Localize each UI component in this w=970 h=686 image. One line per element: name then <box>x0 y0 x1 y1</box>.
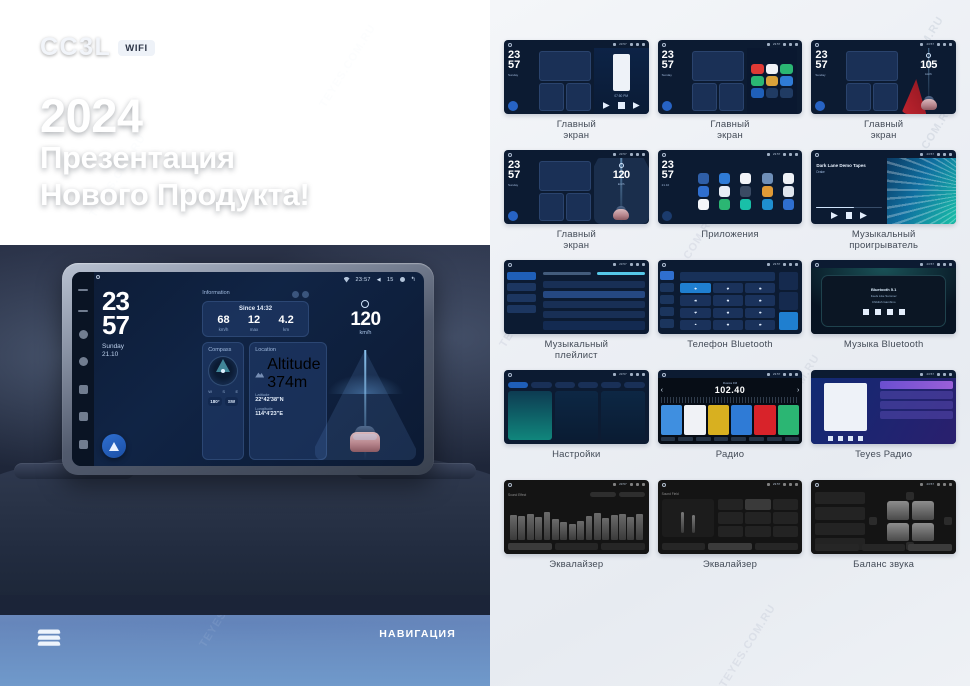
thumb-content: 2357Sunday 07:50 PM <box>504 48 649 114</box>
back-icon <box>642 483 645 486</box>
information-widget[interactable] <box>539 161 591 191</box>
status-volume: 15 <box>387 277 394 283</box>
equalizer-tabs[interactable] <box>508 543 645 550</box>
preset-pad-2[interactable] <box>745 499 771 510</box>
compass-direction: SW <box>225 397 239 406</box>
gallery-cell[interactable]: 23:57 2357Sunday <box>811 40 956 144</box>
volume-icon <box>937 43 940 46</box>
fader-pair[interactable] <box>662 499 714 537</box>
rail-icon-volume-down[interactable] <box>78 310 88 312</box>
music-player-icon <box>740 199 751 210</box>
media-widget[interactable]: 07:50 PM <box>594 48 649 114</box>
band-slider <box>594 513 601 540</box>
wifi-icon <box>613 373 616 376</box>
readout-left <box>815 523 864 535</box>
app-play-store[interactable] <box>758 199 777 210</box>
wifi-icon <box>767 43 770 46</box>
usb-icon <box>698 173 709 184</box>
status-time: 23:57 <box>773 482 781 486</box>
thumb-equalizer-presets[interactable]: 23:57 Sound Field <box>658 480 803 554</box>
thumb-content: Sound Field <box>658 488 803 554</box>
information-widget[interactable] <box>692 51 744 81</box>
volume-icon <box>630 153 633 156</box>
thumb-content <box>811 378 956 444</box>
band-slider <box>560 522 567 540</box>
volume-icon <box>937 373 940 376</box>
seat-rear-right <box>912 523 934 541</box>
settings-tabs[interactable] <box>508 382 645 388</box>
thumb-content: Bluetooth 5.1 Feels Like Summer Childish… <box>811 268 956 334</box>
caption: Эквалайзер <box>549 560 603 584</box>
tool-ta[interactable] <box>749 437 764 441</box>
clock-minutes: 57 <box>662 61 687 71</box>
app-icon-all-apps[interactable] <box>780 88 792 98</box>
band-slider <box>602 518 609 540</box>
preset-pad-3[interactable] <box>773 499 799 510</box>
tab-about[interactable] <box>601 382 621 388</box>
navigation-arrow-button[interactable] <box>508 211 518 221</box>
arrow-up-button[interactable] <box>906 492 914 500</box>
app-icon-youtube[interactable] <box>751 64 763 74</box>
widgets-row-2 <box>692 83 744 111</box>
tab-field[interactable] <box>862 544 906 551</box>
thumb-applications[interactable]: 23:57 235721.10 <box>658 150 803 224</box>
status-time: 23:57 <box>773 372 781 376</box>
card-carplay[interactable] <box>555 391 599 440</box>
status-bar: 23:57 <box>504 480 649 488</box>
thumb-teyes-radio[interactable]: 23:57 <box>811 370 956 444</box>
preset-5[interactable] <box>754 405 775 435</box>
tool-settings[interactable] <box>767 437 782 441</box>
app-clock[interactable] <box>715 186 734 197</box>
preset-pads[interactable] <box>718 499 799 537</box>
app-icon-spotify[interactable] <box>751 76 763 86</box>
sidebar-item-recents[interactable] <box>660 307 675 316</box>
head-unit-bezel: 23:57 ◀ 15 ↰ 23 57 <box>62 263 434 475</box>
refresh-icon[interactable] <box>302 291 309 298</box>
tab-sound[interactable] <box>531 382 551 388</box>
thumb-bluetooth-phone[interactable]: 23:57 12 <box>658 260 803 334</box>
app-music-player[interactable] <box>736 199 755 210</box>
rail-icon-volume-up[interactable] <box>78 289 88 291</box>
settings-cards[interactable] <box>508 391 645 440</box>
card-more[interactable] <box>601 391 645 440</box>
thumb-home-screen-drive[interactable]: 23:57 2357Sunday <box>811 40 956 114</box>
volume-icon <box>630 373 633 376</box>
gallery-cell[interactable]: 23:57 <box>504 260 649 364</box>
list-item[interactable] <box>543 311 645 318</box>
player-controls[interactable] <box>814 436 876 441</box>
information-widget[interactable] <box>539 51 591 81</box>
app-bluetooth[interactable] <box>715 173 734 184</box>
preset-chip-custom[interactable] <box>619 492 645 497</box>
previous-icon[interactable] <box>831 212 838 219</box>
gallery-cell[interactable]: 23:57 2357Sunday <box>504 150 649 254</box>
screenshot-icon <box>789 153 792 156</box>
preset-stations[interactable] <box>661 405 800 435</box>
app-icon-play-store[interactable] <box>751 88 763 98</box>
list-item[interactable] <box>880 391 953 399</box>
head-unit-screen[interactable]: 23:57 ◀ 15 ↰ 23 57 <box>72 272 424 466</box>
navigation-arrow-button[interactable] <box>815 101 825 111</box>
sidebar-item-dialpad[interactable] <box>660 271 675 280</box>
app-dsp-equalizer[interactable] <box>736 186 755 197</box>
media-controls[interactable] <box>599 102 644 109</box>
status-time: 23:57 <box>619 42 627 46</box>
tab-reset[interactable] <box>601 543 645 550</box>
back-icon <box>795 263 798 266</box>
tab-reset[interactable] <box>755 543 799 550</box>
dial-key-5[interactable]: 5 <box>713 295 743 305</box>
stat-value: 12 <box>248 315 260 326</box>
thumb-equalizer-bands[interactable]: 23:57 Sound Effect <box>504 480 649 554</box>
dial-key-0[interactable]: 0 <box>713 320 743 330</box>
now-playing-bar[interactable] <box>543 321 645 330</box>
previous-icon[interactable] <box>863 309 869 315</box>
head-unit-side-rail[interactable] <box>72 272 94 466</box>
thumb-radio[interactable]: 23:57 Russia FM ‹ 102.40 › <box>658 370 803 444</box>
clock-minutes: 57 <box>508 171 533 181</box>
tab-field[interactable] <box>708 543 752 550</box>
app-file-manager[interactable] <box>758 186 777 197</box>
presets-main <box>662 499 799 537</box>
radio-icon <box>783 199 794 210</box>
gallery-cell[interactable]: 23:57 <box>811 370 956 474</box>
rail-icon-home[interactable] <box>79 357 88 366</box>
compass-widget[interactable] <box>539 83 564 111</box>
information-widget[interactable]: Information Since 14:32 <box>202 290 309 337</box>
tool-af[interactable] <box>731 437 746 441</box>
location-widget[interactable] <box>873 83 898 111</box>
sidebar-item-search[interactable] <box>660 295 675 304</box>
folder-icon <box>762 186 773 197</box>
location-widget[interactable] <box>566 83 591 111</box>
information-title: Information <box>202 290 230 296</box>
navigation-arrow-button[interactable] <box>662 101 672 111</box>
tab-fade[interactable] <box>555 543 599 550</box>
wifi-icon <box>767 483 770 486</box>
preset-4[interactable] <box>731 405 752 435</box>
preset-pad-7[interactable] <box>718 526 744 537</box>
app-shortcuts-panel[interactable] <box>747 48 796 114</box>
status-bar: 23:57 <box>658 150 803 158</box>
preset-2[interactable] <box>684 405 705 435</box>
preset-pad-6[interactable] <box>773 512 799 523</box>
hero-line-2: Нового Продукта! <box>40 177 309 214</box>
phone-sidebar[interactable] <box>658 268 677 334</box>
phone-number-field[interactable] <box>680 272 775 281</box>
dial-pad[interactable]: 123 456 789 *0# <box>680 283 775 330</box>
player-controls[interactable] <box>816 212 881 219</box>
tab-more[interactable] <box>624 382 644 388</box>
back-button[interactable] <box>662 211 672 221</box>
gallery-cell[interactable]: 23:57 Russia FM ‹ 102.40 › <box>658 370 803 474</box>
sidebar-item-settings[interactable] <box>660 319 675 328</box>
app-gallery[interactable] <box>779 186 798 197</box>
app-camera[interactable] <box>779 173 798 184</box>
play-store-icon <box>762 199 773 210</box>
preset-pad-8[interactable] <box>745 526 771 537</box>
tab-wlan[interactable] <box>508 382 528 388</box>
car-3d-model <box>348 422 382 452</box>
app-icon-maps[interactable] <box>780 64 792 74</box>
gallery-cell[interactable]: 23:57 <box>811 480 956 584</box>
screenshot-gallery: TEYES.COM.RU TEYES.COM.RU TEYES.COM.RU T… <box>490 0 970 686</box>
arrow-left-button[interactable] <box>869 517 877 525</box>
status-bar: 23:57 <box>658 40 803 48</box>
balance-stage[interactable] <box>869 492 952 550</box>
gallery-cell[interactable]: 23:57 235721.10 <box>658 150 803 254</box>
settings-page[interactable] <box>504 378 649 444</box>
gear-icon[interactable] <box>292 291 299 298</box>
radio-frequency: 102.40 <box>715 385 746 395</box>
next-icon[interactable] <box>848 436 853 441</box>
stop-icon[interactable] <box>838 436 843 441</box>
next-icon[interactable] <box>860 212 867 219</box>
prev-station-icon[interactable]: ‹ <box>661 387 663 394</box>
seat-front-right <box>912 501 934 519</box>
thumb-content: 2357Sunday <box>658 48 803 114</box>
screenshot-icon <box>789 483 792 486</box>
volume-icon <box>937 483 940 486</box>
gallery-cell[interactable]: 23:57 <box>504 370 649 474</box>
app-grid[interactable] <box>689 158 802 224</box>
band-sliders[interactable] <box>508 500 645 540</box>
tool-scan[interactable] <box>678 437 693 441</box>
app-maps[interactable] <box>715 199 734 210</box>
speed-readout: 105 km/h <box>901 53 956 76</box>
backspace-icon[interactable] <box>779 292 798 310</box>
back-icon <box>949 373 952 376</box>
favorite-icon[interactable] <box>858 436 863 441</box>
gallery-cell[interactable]: 23:57 Sound Effect <box>504 480 649 584</box>
car-body <box>613 209 629 220</box>
next-icon[interactable] <box>899 309 905 315</box>
tab-eq[interactable] <box>662 543 706 550</box>
thumb-sound-balance[interactable]: 23:57 <box>811 480 956 554</box>
screenshot-icon <box>943 373 946 376</box>
preset-3[interactable] <box>708 405 729 435</box>
rail-icon-prev[interactable] <box>79 412 88 421</box>
clock-day: Sunday <box>662 73 687 77</box>
gallery-cell[interactable]: 23:57 12 <box>658 260 803 364</box>
app-icon-browser[interactable] <box>766 64 778 74</box>
bluetooth-device-name: Bluetooth 5.1 <box>871 287 896 292</box>
tool-eq[interactable] <box>714 437 729 441</box>
location-widget[interactable] <box>566 193 591 221</box>
next-station-icon[interactable]: › <box>797 387 799 394</box>
back-icon <box>795 153 798 156</box>
equalizer-tabs[interactable] <box>662 543 799 550</box>
list-item[interactable] <box>543 281 645 288</box>
tool-band[interactable] <box>661 437 676 441</box>
card-wifi[interactable] <box>508 391 552 440</box>
status-time: 23:57 <box>926 42 934 46</box>
thumb-settings[interactable]: 23:57 <box>504 370 649 444</box>
compass-widget[interactable]: Compass W S E 180° <box>202 342 244 460</box>
app-calculator[interactable] <box>758 173 777 184</box>
navigation-arrow-button[interactable] <box>508 101 518 111</box>
driving-view-widget[interactable]: 105 km/h <box>901 48 956 114</box>
favorite-star-icon[interactable] <box>779 272 798 290</box>
thumb-home-screen-speed[interactable]: 23:57 2357Sunday <box>504 150 649 224</box>
volume-icon <box>783 43 786 46</box>
sidebar-item-folders[interactable] <box>507 305 536 313</box>
preset-pad-4[interactable] <box>718 512 744 523</box>
preset-pad-1[interactable] <box>718 499 744 510</box>
preset-chip-flat[interactable] <box>590 492 616 497</box>
balance-tabs[interactable] <box>815 544 952 551</box>
gallery-cell[interactable]: 23:57 2357Sunday <box>658 40 803 144</box>
dial-key-star[interactable]: * <box>680 320 710 330</box>
dial-key-4[interactable]: 4 <box>680 295 710 305</box>
radio-page[interactable]: Russia FM ‹ 102.40 › <box>658 378 803 444</box>
dialer[interactable]: 123 456 789 *0# <box>676 268 802 334</box>
gallery-cell[interactable]: 23:57 Dark Lane Demo Tapes Drake <box>811 150 956 254</box>
calculator-icon <box>762 173 773 184</box>
wifi-icon <box>767 373 770 376</box>
band-slider <box>535 517 542 540</box>
preset-6[interactable] <box>778 405 799 435</box>
compass-widget[interactable] <box>692 83 717 111</box>
dial-actions[interactable] <box>779 272 798 330</box>
compass-widget[interactable] <box>539 193 564 221</box>
tab-system[interactable] <box>578 382 598 388</box>
previous-icon[interactable] <box>828 436 833 441</box>
call-icon[interactable] <box>779 312 798 330</box>
app-usb[interactable] <box>693 173 712 184</box>
caption: Главныйэкран <box>557 120 596 144</box>
navigation-arrow-button[interactable] <box>102 434 126 458</box>
dial-key-hash[interactable]: # <box>745 320 775 330</box>
back-icon <box>642 43 645 46</box>
dial-key-2[interactable]: 2 <box>713 283 743 293</box>
sidebar-item-tracks[interactable] <box>507 272 536 280</box>
tab-display[interactable] <box>555 382 575 388</box>
stop-icon[interactable] <box>887 309 893 315</box>
list-item[interactable] <box>880 411 953 419</box>
dial-key-3[interactable]: 3 <box>745 283 775 293</box>
progress-bar[interactable] <box>816 207 881 209</box>
rail-icon-next[interactable] <box>79 440 88 449</box>
tab-favorites[interactable] <box>597 272 645 275</box>
app-bluetooth-music[interactable] <box>736 173 755 184</box>
driving-view-widget[interactable]: 120 km/h <box>594 158 649 224</box>
app-icon-settings[interactable] <box>766 88 778 98</box>
preset-1[interactable] <box>661 405 682 435</box>
status-time: 23:57 <box>619 482 627 486</box>
widgets-column <box>843 48 901 114</box>
radio-toolbar[interactable] <box>661 437 800 441</box>
rail-icon-back[interactable] <box>79 385 88 394</box>
thumb-music-player[interactable]: 23:57 Dark Lane Demo Tapes Drake <box>811 150 956 224</box>
screenshot-icon <box>636 263 639 266</box>
gallery-icon <box>783 186 794 197</box>
location-widget[interactable] <box>719 83 744 111</box>
play-pause-icon[interactable] <box>875 309 881 315</box>
preset-pad-9[interactable] <box>773 526 799 537</box>
thumb-home-screen-media[interactable]: 23:57 2357Sunday 07:50 PM <box>504 40 649 114</box>
screenshot-icon <box>943 153 946 156</box>
speed-unit: km/h <box>315 330 416 336</box>
layers-icon[interactable] <box>38 626 60 646</box>
station-list[interactable] <box>880 381 953 441</box>
equalizer-presets-page[interactable]: Sound Field <box>658 488 803 554</box>
list-item[interactable] <box>543 291 645 298</box>
sidebar-item-artists[interactable] <box>507 294 536 302</box>
equalizer-header[interactable]: Sound Effect <box>508 492 645 497</box>
dial-key-9[interactable]: 9 <box>745 308 775 318</box>
equalizer-page[interactable]: Sound Effect <box>504 488 649 554</box>
app-chrome[interactable] <box>693 186 712 197</box>
thumb-music-playlist[interactable]: 23:57 <box>504 260 649 334</box>
wifi-icon <box>920 43 923 46</box>
tool-apps[interactable] <box>785 437 800 441</box>
widgets-column <box>536 48 594 114</box>
app-google[interactable] <box>693 199 712 210</box>
clock-column: 2357Sunday <box>504 158 536 224</box>
home-circle-icon[interactable] <box>96 275 100 279</box>
status-bar: 23:57 <box>811 260 956 268</box>
list-item[interactable] <box>543 301 645 308</box>
playlist-table[interactable] <box>539 268 649 334</box>
teyes-radio-page[interactable] <box>811 378 956 444</box>
thumb-home-screen-apps[interactable]: 23:57 2357Sunday <box>658 40 803 114</box>
gallery-cell[interactable]: 23:57 Bluetooth 5.1 Feels Like Summer Ch… <box>811 260 956 364</box>
app-icon-gallery[interactable] <box>766 76 778 86</box>
thumb-bluetooth-music[interactable]: 23:57 Bluetooth 5.1 Feels Like Summer Ch… <box>811 260 956 334</box>
preset-pad-5[interactable] <box>745 512 771 523</box>
information-widget[interactable] <box>846 51 898 81</box>
caption: Телефон Bluetooth <box>687 340 773 364</box>
tab-eq[interactable] <box>815 544 859 551</box>
tool-list[interactable] <box>696 437 711 441</box>
dial-key-8[interactable]: 8 <box>713 308 743 318</box>
speed-unit: km/h <box>594 182 649 186</box>
tab-eq[interactable] <box>508 543 552 550</box>
tab-all[interactable] <box>543 272 591 275</box>
dial-key-6[interactable]: 6 <box>745 295 775 305</box>
rail-icon-power[interactable] <box>79 330 88 339</box>
car-body <box>921 99 937 110</box>
playlist-sidebar[interactable] <box>504 268 539 334</box>
sidebar-item-albums[interactable] <box>507 283 536 291</box>
driving-view-widget[interactable]: 120 km/h <box>315 290 416 460</box>
widgets-row-2 <box>846 83 898 111</box>
app-icon-mail[interactable] <box>780 76 792 86</box>
compass-widget[interactable] <box>846 83 871 111</box>
gallery-cell[interactable]: 23:57 2357Sunday 07:50 PM <box>504 40 649 144</box>
sidebar-item-contacts[interactable] <box>660 283 675 292</box>
tab-balance[interactable] <box>908 544 952 551</box>
tuning-scale[interactable] <box>661 397 800 403</box>
app-radio[interactable] <box>779 199 798 210</box>
dial-key-7[interactable]: 7 <box>680 308 710 318</box>
list-item[interactable] <box>880 381 953 389</box>
pause-icon[interactable] <box>846 212 852 219</box>
list-item[interactable] <box>880 401 953 409</box>
dial-key-1[interactable]: 1 <box>680 283 710 293</box>
arrow-right-button[interactable] <box>944 517 952 525</box>
gallery-cell[interactable]: 23:57 Sound Field <box>658 480 803 584</box>
player-controls[interactable] <box>863 309 905 315</box>
screenshot-icon[interactable] <box>400 277 405 282</box>
playlist-tabs[interactable] <box>543 272 645 275</box>
track-title: Dark Lane Demo Tapes <box>816 163 881 168</box>
band-slider <box>586 516 593 540</box>
home-screen-grid: 23 57 Sunday 21.10 <box>102 290 416 460</box>
thumb-content: Russia FM ‹ 102.40 › <box>658 378 803 444</box>
